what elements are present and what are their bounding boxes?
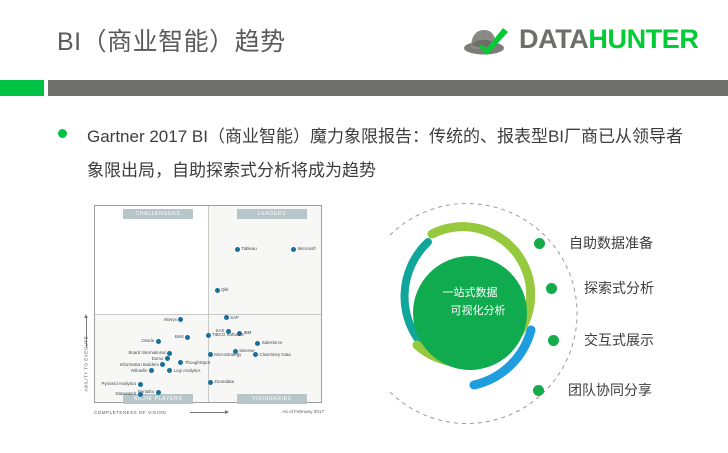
quadrant-label-challengers: CHALLENGERS <box>123 209 193 219</box>
page-header: BI（商业智能）趋势 DATAHUNTER <box>0 0 728 78</box>
vendor-label: Zoomdata <box>214 379 234 384</box>
quadrant-label-leaders: LEADERS <box>237 209 307 219</box>
node-dot-1[interactable] <box>534 238 545 249</box>
vendor-label: Qlik <box>221 287 229 292</box>
center-label-line1: 一站式数据 <box>412 284 528 302</box>
vendor-label: ThoughtSpot <box>185 360 210 365</box>
capability-circle-diagram: 一站式数据 可视化分析 自助数据准备 探索式分析 交互式展示 团队协同分享 <box>352 200 728 425</box>
as-of-date: As of February 2017 <box>282 409 324 414</box>
vendor-point <box>156 390 161 395</box>
vendor-label: Domo <box>152 356 164 361</box>
divider-accent-block <box>0 80 44 96</box>
node-dot-3[interactable] <box>548 335 559 346</box>
vendor-point <box>255 341 260 346</box>
vendor-label: Board International <box>128 350 165 355</box>
y-axis-label: ABILITY TO EXECUTE <box>84 314 89 392</box>
brand-text-hunter: HUNTER <box>588 24 698 54</box>
node-label-4: 团队协同分享 <box>568 380 652 400</box>
vendor-label: Tableau <box>241 246 256 251</box>
x-axis-arrow-icon <box>190 412 228 413</box>
hat-check-logo-icon <box>463 26 511 56</box>
vendor-label: Birst <box>175 334 184 339</box>
node-dot-4[interactable] <box>533 385 544 396</box>
divider-bar <box>48 80 728 96</box>
vendor-label: SAP <box>230 315 239 320</box>
vendor-label: Oracle <box>141 338 154 343</box>
node-label-2: 探索式分析 <box>584 278 654 298</box>
bullet-text: Gartner 2017 BI（商业智能）魔力象限报告：传统的、报表型BI厂商已… <box>87 120 687 188</box>
vendor-label: Datawatch <box>115 391 136 396</box>
vendor-point <box>138 392 143 397</box>
center-label: 一站式数据 可视化分析 <box>412 284 528 320</box>
vendor-point <box>224 315 229 320</box>
page-title: BI（商业智能）趋势 <box>57 22 286 58</box>
vendor-label: Pyramid Analytics <box>102 381 137 386</box>
vendor-point <box>138 382 143 387</box>
quadrant-horizontal-divider <box>95 314 321 315</box>
vendor-point <box>167 351 172 356</box>
center-label-line2: 可视化分析 <box>412 302 528 320</box>
quadrant-challengers-area <box>95 206 208 314</box>
brand-text-data: DATA <box>519 24 588 54</box>
vendor-point <box>206 333 211 338</box>
vendor-label: IBM <box>244 330 252 335</box>
node-dot-2[interactable] <box>546 283 557 294</box>
brand-logo: DATAHUNTER <box>463 24 693 58</box>
quadrant-visionaries-area <box>208 314 321 402</box>
vendor-point <box>215 288 220 293</box>
x-axis-label: COMPLETENESS OF VISION <box>94 410 166 415</box>
vendor-label: MicroStrategy <box>214 352 241 357</box>
quadrant-leaders-area <box>208 206 321 314</box>
vendor-label: Yellowfin <box>130 368 147 373</box>
vendor-point <box>185 335 190 340</box>
quadrant-label-visionaries: VISIONARIES <box>237 394 307 404</box>
vendor-label: Salesforce <box>262 340 283 345</box>
vendor-point <box>235 247 240 252</box>
magic-quadrant-plot: CHALLENGERS LEADERS NICHE PLAYERS VISION… <box>94 205 322 403</box>
header-divider <box>0 80 728 96</box>
node-label-1: 自助数据准备 <box>569 233 653 253</box>
quadrant-vertical-divider <box>208 206 209 402</box>
vendor-label: ClearStory Data <box>259 352 290 357</box>
gartner-magic-quadrant-image: CHALLENGERS LEADERS NICHE PLAYERS VISION… <box>78 200 328 430</box>
vendor-label: Microsoft <box>298 246 316 251</box>
vendor-label: TIBCO Software <box>212 332 244 337</box>
brand-text: DATAHUNTER <box>519 24 699 55</box>
node-label-3: 交互式展示 <box>584 330 654 350</box>
vendor-label: Information Builders <box>120 362 159 367</box>
vendor-label: Alteryx <box>163 317 176 322</box>
vendor-label: Logi Analytics <box>174 368 201 373</box>
vendor-point <box>208 380 213 385</box>
bullet-dot-icon <box>58 129 67 138</box>
vendor-point <box>156 339 161 344</box>
